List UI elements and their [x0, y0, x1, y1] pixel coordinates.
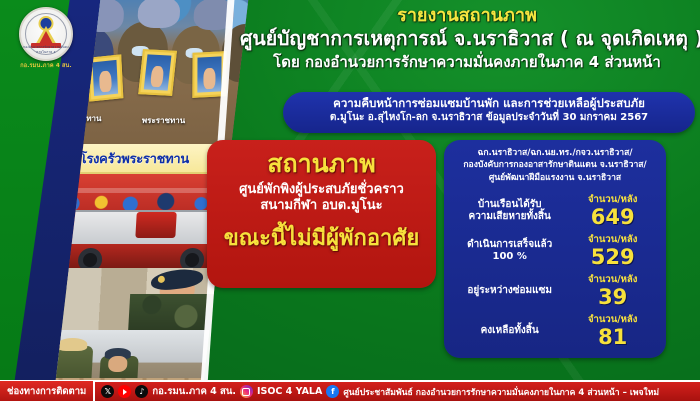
emblem-micro-text: กองอำนวยการรักษาความมั่นคงภายในภาค 4 — [21, 45, 71, 55]
footer-name-1: กอ.รมน.ภาค 4 สน. — [152, 384, 236, 399]
row-value: จำนวน/หลัง 39 — [567, 275, 658, 307]
status-box-line-2: สนามกีฬา อบต.มูโนะ — [207, 198, 436, 215]
row-label-line-1: อยู่ระหว่างซ่อมแซม — [452, 285, 567, 298]
header: รายงานสถานภาพ ศูนย์บัญชาการเหตุการณ์ จ.น… — [240, 6, 694, 71]
row-label-line-1: ดำเนินการเสร็จแล้ว — [452, 239, 567, 252]
kitchen-banner-text: โรงครัวพระราชทาน — [79, 148, 189, 169]
row-label: บ้านเรือนได้รับ ความเสียหายทั้งสิ้น — [452, 199, 567, 224]
banner-line-2: ต.มูโนะ อ.สุไหงโก-ลก จ.นราธิวาส ข้อมูลปร… — [283, 111, 695, 124]
status-box: สถานภาพ ศูนย์พักพิงผู้ประสบภัยชั่วคราว ส… — [207, 140, 436, 288]
row-label-line-2: 100 % — [452, 251, 567, 264]
emblem-caption: กอ.รมน.ภาค 4 สน. — [14, 64, 78, 70]
footer-name-2: ISOC 4 YALA — [257, 386, 322, 397]
infographic-poster: ราชทาน พระราชทาน โรงครัวพระราชทาน — [0, 0, 700, 401]
row-label-line-1: คงเหลือทั้งสิ้น — [452, 325, 567, 338]
facebook-icon[interactable]: f — [326, 385, 339, 398]
youtube-icon[interactable] — [118, 385, 131, 398]
data-panel: ฉก.นราธิวาส/ฉก.นย.ทร./กจว.นราธิวาส/ กองบ… — [444, 140, 666, 358]
instagram-icon[interactable] — [240, 385, 253, 398]
footer-tag: ช่องทางการติดตาม — [0, 381, 95, 401]
row-number: 529 — [567, 246, 658, 268]
row-unit: จำนวน/หลัง — [567, 235, 658, 245]
agency-line-3: ศูนย์พัฒนาฝีมือแรงงาน จ.นราธิวาส — [452, 172, 658, 184]
row-value: จำนวน/หลัง 529 — [567, 235, 658, 267]
table-row: บ้านเรือนได้รับ ความเสียหายทั้งสิ้น จำนว… — [452, 191, 658, 231]
row-label: ดำเนินการเสร็จแล้ว 100 % — [452, 239, 567, 264]
row-value: จำนวน/หลัง 81 — [567, 315, 658, 347]
row-number: 649 — [567, 206, 658, 228]
statistics-rows: บ้านเรือนได้รับ ความเสียหายทั้งสิ้น จำนว… — [452, 191, 658, 351]
row-value: จำนวน/หลัง 649 — [567, 195, 658, 227]
tiktok-icon[interactable]: ♪ — [135, 385, 148, 398]
row-label: อยู่ระหว่างซ่อมแซม — [452, 285, 567, 298]
banner-line-1: ความคืบหน้าการซ่อมแซมบ้านพัก และการช่วยเ… — [283, 96, 695, 110]
status-box-highlight: ขณะนี้ไม่มีผู้พักอาศัย — [207, 227, 436, 251]
row-unit: จำนวน/หลัง — [567, 195, 658, 205]
table-row: คงเหลือทั้งสิ้น จำนวน/หลัง 81 — [452, 311, 658, 351]
footer-social-links: 𝕏 ♪ กอ.รมน.ภาค 4 สน. ISOC 4 YALA f ศูนย์… — [95, 384, 659, 399]
photo-royal-label-2: พระราชทาน — [142, 114, 186, 127]
table-row: ดำเนินการเสร็จแล้ว 100 % จำนวน/หลัง 529 — [452, 231, 658, 271]
x-icon[interactable]: 𝕏 — [101, 385, 114, 398]
header-subtitle: โดย กองอำนวยการรักษาความมั่นคงภายในภาค 4… — [240, 53, 694, 72]
row-label: คงเหลือทั้งสิ้น — [452, 325, 567, 338]
status-box-title: สถานภาพ — [207, 150, 436, 178]
isoc-emblem: กองอำนวยการรักษาความมั่นคงภายในภาค 4 กอ.… — [14, 7, 78, 70]
header-kicker: รายงานสถานภาพ — [240, 6, 694, 26]
agency-list: ฉก.นราธิวาส/ฉก.นย.ทร./กจว.นราธิวาส/ กองบ… — [452, 147, 658, 184]
row-label-line-1: บ้านเรือนได้รับ — [452, 199, 567, 212]
table-row: อยู่ระหว่างซ่อมแซม จำนวน/หลัง 39 — [452, 271, 658, 311]
row-unit: จำนวน/หลัง — [567, 315, 658, 325]
progress-banner: ความคืบหน้าการซ่อมแซมบ้านพัก และการช่วยเ… — [283, 92, 695, 133]
footer-name-3: ศูนย์ประชาสัมพันธ์ กองอำนวยการรักษาความม… — [343, 385, 659, 399]
row-number: 81 — [567, 326, 658, 348]
footer-bar: ช่องทางการติดตาม 𝕏 ♪ กอ.รมน.ภาค 4 สน. IS… — [0, 380, 700, 401]
row-unit: จำนวน/หลัง — [567, 275, 658, 285]
status-box-line-1: ศูนย์พักพิงผู้ประสบภัยชั่วคราว — [207, 182, 436, 199]
agency-line-2: กองบังคับการกองอาสารักษาดินแดน จ.นราธิวา… — [452, 159, 658, 171]
row-label-line-2: ความเสียหายทั้งสิ้น — [452, 211, 567, 224]
agency-line-1: ฉก.นราธิวาส/ฉก.นย.ทร./กจว.นราธิวาส/ — [452, 147, 658, 159]
row-number: 39 — [567, 286, 658, 308]
page-title: ศูนย์บัญชาการเหตุการณ์ จ.นราธิวาส ( ณ จุ… — [240, 27, 694, 50]
